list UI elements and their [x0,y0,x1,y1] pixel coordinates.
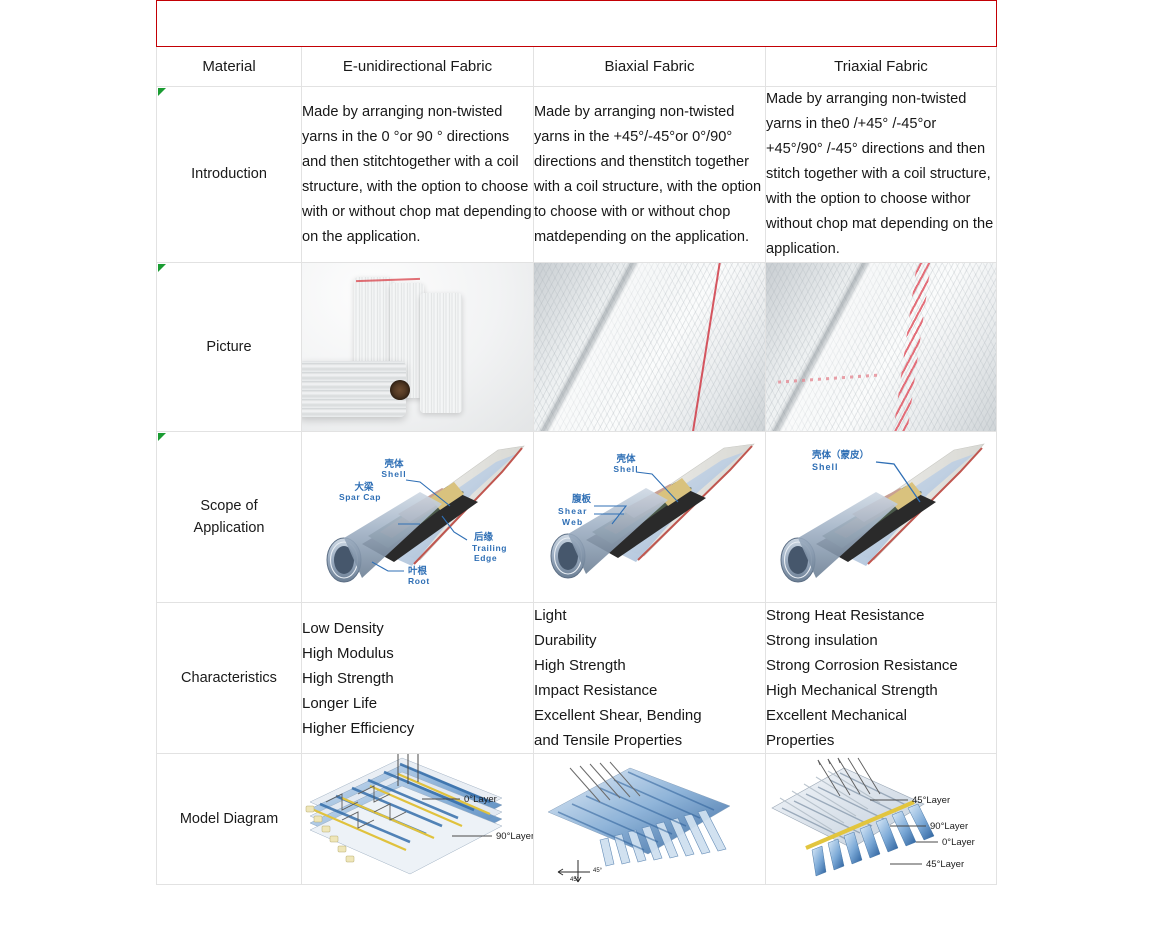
table-title-cell: Comparison of Three Materials [157,1,997,47]
blade-diagram-biaxial: 壳体 Shell 腹板 Shear Web [534,432,766,602]
intro-text-c: Made by arranging non-twisted yarns in t… [766,87,996,262]
label-shear-web-en2: Web [562,517,583,527]
characteristics-cell-c: Strong Heat Resistance Strong insulation… [766,603,997,754]
label-root-en: Root [408,576,430,586]
row-characteristics: Characteristics Low Density High Modulus… [157,603,997,754]
column-header-biaxial: Biaxial Fabric [534,47,766,87]
label-trailing-edge-en2: Edge [474,553,497,563]
model-label-90-layer: 90°Layer [496,831,534,842]
characteristic-item: High Strength [302,666,533,691]
characteristic-item: Higher Efficiency [302,716,533,741]
comparison-table-page: Comparison of Three Materials Material E… [0,0,1168,928]
row-label-characteristics: Characteristics [157,603,302,754]
model-label-45-bottom: 45° [570,877,580,883]
characteristics-cell-b: Light Durability High Strength Impact Re… [534,603,766,754]
model-diagram-biaxial: 45° 45° [534,754,766,884]
row-label-model-diagram: Model Diagram [157,754,302,885]
model-label-45-layer-top: 45°Layer [912,795,950,806]
label-shear-web-cn: 腹板 [571,493,592,505]
characteristics-cell-a: Low Density High Modulus High Strength L… [302,603,534,754]
row-label-picture: Picture [157,263,302,432]
row-picture: Picture [157,263,997,432]
label-shear-web-en: Shear [558,506,588,516]
title-row: Comparison of Three Materials [157,1,997,47]
intro-cell-c: Made by arranging non-twisted yarns in t… [766,87,997,263]
blade-diagram-triaxial: 壳体（蒙皮） Shell [766,432,997,602]
row-label-introduction: Introduction [157,87,302,263]
characteristic-item: Longer Life [302,691,533,716]
intro-cell-b: Made by arranging non-twisted yarns in t… [534,87,766,263]
intro-text-b: Made by arranging non-twisted yarns in t… [534,100,765,250]
model-cell-c: 45°Layer 90°Layer 0°Layer 45°Layer [766,754,997,885]
label-shell-cn-c: 壳体（蒙皮） [811,449,869,461]
scope-cell-b: 壳体 Shell 腹板 Shear Web [534,432,766,603]
page-title: Comparison of Three Materials [437,12,717,34]
label-trailing-edge-en: Trailing [472,543,507,553]
biaxial-fabric-closeup-photo [534,263,765,431]
characteristic-item: Light [534,603,765,628]
characteristic-item: High Strength [534,653,765,678]
model-cell-a: 0°Layer 90°Layer [302,754,534,885]
model-diagram-unidirectional: 0°Layer 90°Layer [302,754,534,884]
characteristic-item: Excellent Mechanical [766,703,996,728]
characteristic-item: and Tensile Properties [534,728,765,753]
scope-cell-c: 壳体（蒙皮） Shell [766,432,997,603]
table-wrapper: Comparison of Three Materials Material E… [156,0,996,920]
model-cell-b: 45° 45° [534,754,766,885]
model-diagram-triaxial: 45°Layer 90°Layer 0°Layer 45°Layer [766,754,997,884]
row-scope-of-application: Scope of Application [157,432,997,603]
characteristic-item: Strong Heat Resistance [766,603,996,628]
characteristic-item: Strong Corrosion Resistance [766,653,996,678]
picture-cell-b [534,263,766,432]
blade-diagram-unidirectional: 壳体 Shell 大梁 Spar Cap 后缘 Trailing Edge 叶根… [302,432,534,602]
row-introduction: Introduction Made by arranging non-twist… [157,87,997,263]
intro-cell-a: Made by arranging non-twisted yarns in t… [302,87,534,263]
model-label-0-layer-c: 0°Layer [942,837,975,848]
label-trailing-edge-cn: 后缘 [474,531,494,543]
label-shell-en: Shell [381,469,406,479]
intro-text-a: Made by arranging non-twisted yarns in t… [302,100,533,250]
characteristic-item: High Mechanical Strength [766,678,996,703]
row-label-scope-of-application: Scope of Application [157,432,302,603]
column-header-e-unidirectional: E-unidirectional Fabric [302,47,534,87]
row-label-scope-line1: Scope of [157,495,301,517]
row-label-scope-line2: Application [157,517,301,539]
characteristic-item: Impact Resistance [534,678,765,703]
column-header-triaxial: Triaxial Fabric [766,47,997,87]
scope-cell-a: 壳体 Shell 大梁 Spar Cap 后缘 Trailing Edge 叶根… [302,432,534,603]
label-shell-en-b: Shell [613,464,638,474]
model-label-0-layer: 0°Layer [464,794,497,805]
characteristic-item: Properties [766,728,996,753]
picture-cell-a [302,263,534,432]
column-header-material: Material [157,47,302,87]
characteristic-item: Durability [534,628,765,653]
label-spar-cap-en: Spar Cap [339,492,381,502]
header-row: Material E-unidirectional Fabric Biaxial… [157,47,997,87]
characteristic-item: High Modulus [302,641,533,666]
model-label-90-layer-c: 90°Layer [930,821,968,832]
picture-cell-c [766,263,997,432]
row-model-diagram: Model Diagram [157,754,997,885]
label-shell-en-c: Shell [812,462,839,472]
triaxial-fabric-closeup-photo [766,263,996,431]
characteristic-item: Excellent Shear, Bending [534,703,765,728]
characteristic-item: Low Density [302,616,533,641]
model-label-45-layer-bottom: 45°Layer [926,859,964,870]
comparison-table: Comparison of Three Materials Material E… [156,0,997,885]
model-label-45-right: 45° [593,868,603,874]
fiberglass-rolls-photo [302,263,533,431]
characteristic-item: Strong insulation [766,628,996,653]
